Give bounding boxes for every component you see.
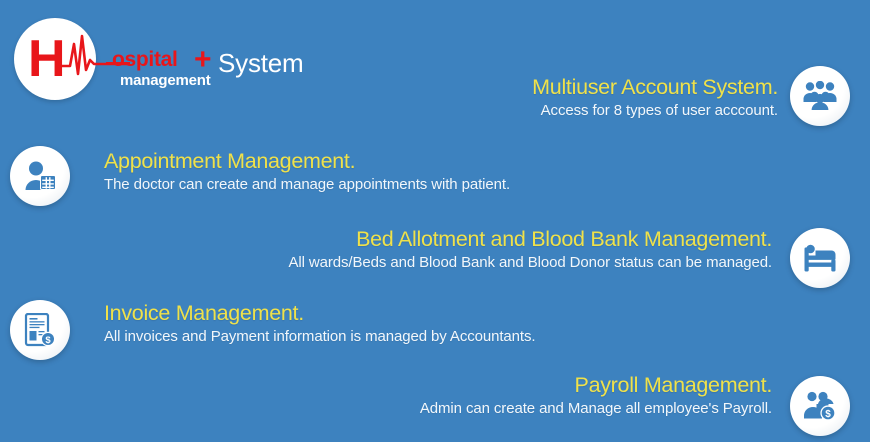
logo-plus-icon: + xyxy=(194,45,212,75)
feature-payroll: Payroll Management. Admin can create and… xyxy=(200,372,772,419)
logo-letter-h: H xyxy=(28,33,64,85)
group-people-icon xyxy=(790,66,850,126)
svg-text:$: $ xyxy=(825,409,831,420)
hospital-management-feature-poster: H ospital + management System Multiuser … xyxy=(0,0,870,442)
hospital-bed-icon xyxy=(790,228,850,288)
svg-text:$: $ xyxy=(45,335,51,346)
feature-invoice-title: Invoice Management. xyxy=(104,300,574,326)
feature-bed-allotment: Bed Allotment and Blood Bank Management.… xyxy=(160,226,772,273)
people-dollar-icon: $ xyxy=(790,376,850,436)
hospital-bed-icon-glyph xyxy=(803,244,837,272)
person-calendar-icon-glyph xyxy=(23,160,57,192)
invoice-dollar-icon: $ xyxy=(10,300,70,360)
feature-invoice-desc: All invoices and Payment information is … xyxy=(104,326,574,347)
feature-bed-allotment-title: Bed Allotment and Blood Bank Management. xyxy=(160,226,772,252)
logo-word-hospital: ospital xyxy=(112,48,178,72)
logo-word-management: management xyxy=(120,72,211,89)
feature-payroll-title: Payroll Management. xyxy=(200,372,772,398)
feature-invoice: Invoice Management. All invoices and Pay… xyxy=(104,300,574,347)
invoice-dollar-icon-glyph: $ xyxy=(24,313,56,347)
feature-payroll-desc: Admin can create and Manage all employee… xyxy=(200,398,772,419)
feature-multiuser-desc: Access for 8 types of user acccount. xyxy=(430,100,778,121)
feature-appointment-desc: The doctor can create and manage appoint… xyxy=(104,174,644,195)
logo-wordmark: ospital + management xyxy=(106,48,231,94)
group-people-icon-glyph xyxy=(803,81,837,111)
feature-appointment-title: Appointment Management. xyxy=(104,148,644,174)
feature-multiuser-title: Multiuser Account System. xyxy=(430,74,778,100)
people-dollar-icon-glyph: $ xyxy=(803,391,837,421)
feature-bed-allotment-desc: All wards/Beds and Blood Bank and Blood … xyxy=(160,252,772,273)
feature-appointment: Appointment Management. The doctor can c… xyxy=(104,148,644,195)
page-title: System xyxy=(218,48,303,79)
feature-multiuser: Multiuser Account System. Access for 8 t… xyxy=(430,74,778,121)
calendar-part xyxy=(40,175,56,190)
person-calendar-icon xyxy=(10,146,70,206)
